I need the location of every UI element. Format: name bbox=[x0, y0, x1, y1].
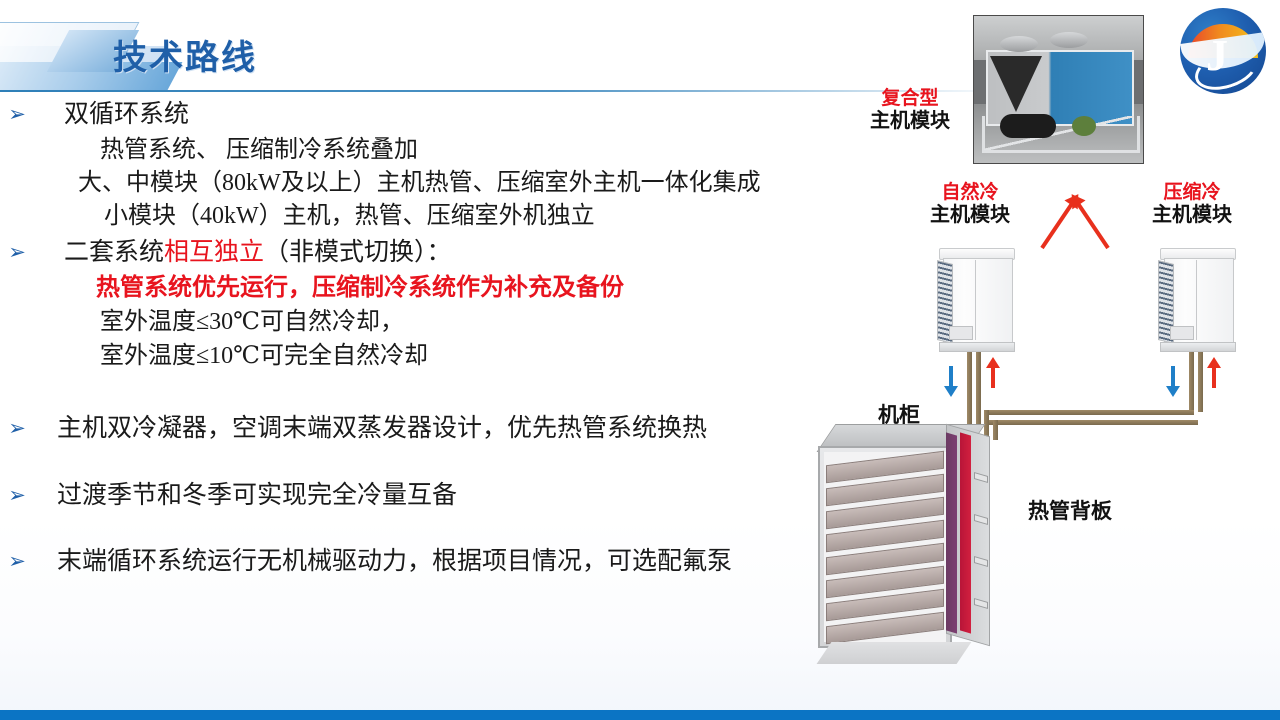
content-block-no-mechanical-drive: ➢ 末端循环系统运行无机械驱动力，根据项目情况，可选配氟泵 bbox=[0, 547, 860, 578]
bullet-arrow-icon: ➢ bbox=[0, 100, 34, 127]
photo-compressor bbox=[1072, 116, 1096, 136]
odu-vent bbox=[1170, 326, 1194, 340]
cabinet-red-panel bbox=[960, 432, 971, 633]
bullet-heading: 末端循环系统运行无机械驱动力，根据项目情况，可选配氟泵 bbox=[57, 547, 732, 578]
page-title: 技术路线 bbox=[113, 30, 257, 79]
label-heatpipe-backplate: 热管背板 bbox=[1028, 500, 1112, 525]
photo-tank bbox=[1000, 114, 1056, 138]
composite-chiller-photo bbox=[973, 15, 1144, 164]
bullet-item: ➢ 末端循环系统运行无机械驱动力，根据项目情况，可选配氟泵 bbox=[0, 547, 860, 578]
sub-line: 小模块（40kW）主机，热管、压缩室外机独立 bbox=[104, 201, 860, 232]
odu-panel-split bbox=[1196, 260, 1197, 340]
odu-panel-split bbox=[975, 260, 976, 340]
label-natural-black: 主机模块 bbox=[930, 204, 1010, 228]
merge-arrow-right-icon bbox=[1075, 200, 1110, 249]
sub-line: 热管系统、 压缩制冷系统叠加 bbox=[100, 135, 860, 166]
sub-line: 大、中模块（80kW及以上）主机热管、压缩室外主机一体化集成 bbox=[78, 168, 860, 199]
photo-fan-1 bbox=[1000, 36, 1038, 52]
cabinet-base bbox=[817, 642, 972, 664]
outdoor-unit-natural-cooling bbox=[937, 248, 1015, 354]
cabinet-front bbox=[818, 446, 952, 648]
flow-arrow-return-left-icon bbox=[991, 366, 995, 388]
label-composite-black: 主机模块 bbox=[870, 110, 950, 134]
content-body: ➢ 双循环系统 热管系统、 压缩制冷系统叠加 大、中模块（80kW及以上）主机热… bbox=[0, 96, 860, 578]
bottom-accent-bar bbox=[0, 710, 1280, 720]
pipe-right-return bbox=[1198, 352, 1203, 412]
pipe-horizontal-run-a bbox=[984, 410, 1194, 415]
flow-arrow-return-right-icon bbox=[1212, 366, 1216, 388]
outdoor-unit-compressor-cooling bbox=[1158, 248, 1236, 354]
bullet-item: ➢ 双循环系统 bbox=[0, 100, 860, 131]
bullet-item: ➢ 过渡季节和冬季可实现完全冷量互备 bbox=[0, 481, 860, 512]
label-compressor-red: 压缩冷 bbox=[1152, 182, 1232, 204]
odu-vent bbox=[949, 326, 973, 340]
content-block-two-independent-systems: ➢ 二套系统相互独立（非模式切换）： 热管系统优先运行，压缩制冷系统作为补充及备… bbox=[0, 238, 860, 372]
flow-arrow-supply-left-icon bbox=[949, 366, 953, 388]
server-cabinet bbox=[818, 424, 1018, 674]
sub-line: 室外温度≤10℃可完全自然冷却 bbox=[100, 341, 860, 372]
label-composite-module: 复合型 主机模块 bbox=[870, 88, 950, 134]
label-composite-red: 复合型 bbox=[870, 88, 950, 110]
sub-line: 室外温度≤30℃可自然冷却， bbox=[100, 307, 860, 338]
bullet-arrow-icon: ➢ bbox=[0, 547, 34, 574]
heading-part-tail: （非模式切换）： bbox=[264, 239, 452, 266]
bullet-arrow-icon: ➢ bbox=[0, 238, 34, 265]
bullet-heading: 双循环系统 bbox=[64, 100, 189, 131]
sub-line-emphasis: 热管系统优先运行，压缩制冷系统作为补充及备份 bbox=[96, 273, 860, 304]
system-diagram: 复合型 主机模块 自然冷 主机模块 压缩冷 主机模块 机柜 热管背板 bbox=[800, 0, 1280, 720]
odu-base bbox=[1160, 342, 1236, 352]
cabinet-purple-panel bbox=[946, 432, 957, 633]
pipe-left-supply bbox=[967, 352, 972, 428]
bullet-item: ➢ 二套系统相互独立（非模式切换）： bbox=[0, 238, 860, 269]
odu-base bbox=[939, 342, 1015, 352]
photo-fan-2 bbox=[1050, 32, 1088, 48]
bullet-heading: 过渡季节和冬季可实现完全冷量互备 bbox=[57, 481, 457, 512]
heading-part-emphasis: 相互独立 bbox=[164, 239, 264, 266]
slide-canvas: 技术路线 J ➢ 双循环系统 热管系统、 压缩制冷系统叠加 大、中模块（80kW… bbox=[0, 0, 1280, 720]
bullet-item: ➢ 主机双冷凝器，空调末端双蒸发器设计，优先热管系统换热 bbox=[0, 414, 860, 445]
flow-arrow-supply-right-icon bbox=[1171, 366, 1175, 388]
label-natural-red: 自然冷 bbox=[930, 182, 1010, 204]
photo-coil-vee bbox=[990, 56, 1042, 112]
heading-part-plain: 二套系统 bbox=[64, 239, 164, 266]
merge-arrow-left-icon bbox=[1040, 200, 1075, 249]
label-natural-cooling-module: 自然冷 主机模块 bbox=[930, 182, 1010, 228]
bullet-heading: 主机双冷凝器，空调末端双蒸发器设计，优先热管系统换热 bbox=[57, 414, 707, 445]
label-compressor-cooling-module: 压缩冷 主机模块 bbox=[1152, 182, 1232, 228]
pipe-right-supply bbox=[1189, 352, 1194, 412]
bullet-arrow-icon: ➢ bbox=[0, 481, 34, 508]
label-backplate-text: 热管背板 bbox=[1028, 500, 1112, 525]
pipe-left-return bbox=[976, 352, 981, 428]
content-block-dual-condenser: ➢ 主机双冷凝器，空调末端双蒸发器设计，优先热管系统换热 bbox=[0, 414, 860, 445]
content-block-season-backup: ➢ 过渡季节和冬季可实现完全冷量互备 bbox=[0, 481, 860, 512]
bullet-arrow-icon: ➢ bbox=[0, 414, 34, 441]
content-block-dual-loop: ➢ 双循环系统 热管系统、 压缩制冷系统叠加 大、中模块（80kW及以上）主机热… bbox=[0, 100, 860, 232]
label-compressor-black: 主机模块 bbox=[1152, 204, 1232, 228]
bullet-heading: 二套系统相互独立（非模式切换）： bbox=[64, 238, 452, 269]
